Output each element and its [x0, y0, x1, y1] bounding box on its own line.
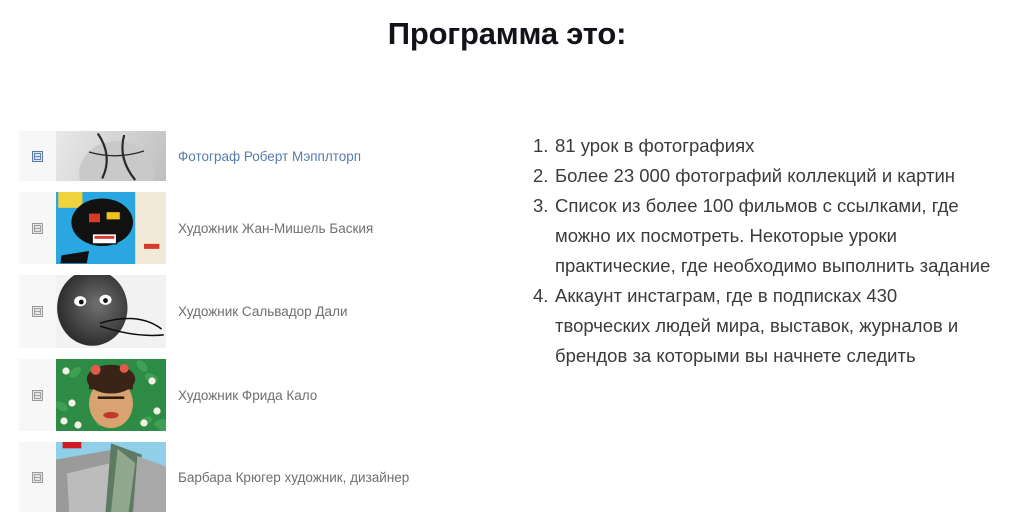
- artist-thumbnail: [56, 192, 166, 264]
- broken-image-icon: [19, 223, 56, 234]
- program-list-item: 1.81 урок в фотографиях: [533, 131, 993, 161]
- artist-thumbnail: [56, 359, 166, 431]
- artist-label: Барбара Крюгер художник, дизайнер: [166, 470, 409, 485]
- artist-list: Фотограф Роберт МэпплторпХудожник Жан-Ми…: [19, 131, 489, 523]
- artist-row[interactable]: Художник Жан-Мишель Баския: [19, 192, 489, 264]
- program-item-number: 1.: [533, 131, 553, 161]
- program-item-text: Более 23 000 фотографий коллекций и карт…: [555, 161, 993, 191]
- artist-row[interactable]: Фотограф Роберт Мэпплторп: [19, 131, 489, 181]
- artist-label: Художник Сальвадор Дали: [166, 304, 348, 319]
- artist-thumbnail: [56, 442, 166, 512]
- artist-media: [19, 275, 166, 348]
- artist-row[interactable]: Художник Фрида Кало: [19, 359, 489, 431]
- program-list-item: 4.Аккаунт инстаграм, где в подписках 430…: [533, 281, 993, 371]
- program-item-number: 2.: [533, 161, 553, 191]
- program-item-text: Список из более 100 фильмов с ссылками, …: [555, 191, 993, 281]
- broken-image-icon: [19, 306, 56, 317]
- artist-thumbnail: [56, 131, 166, 181]
- program-item-number: 4.: [533, 281, 553, 311]
- artist-label: Художник Жан-Мишель Баския: [166, 221, 373, 236]
- program-list: 1.81 урок в фотографиях2.Более 23 000 фо…: [533, 131, 993, 371]
- artist-media: [19, 131, 166, 181]
- program-list-item: 2.Более 23 000 фотографий коллекций и ка…: [533, 161, 993, 191]
- program-list-item: 3.Список из более 100 фильмов с ссылками…: [533, 191, 993, 281]
- page-title: Программа это:: [0, 16, 1014, 52]
- artist-media: [19, 359, 166, 431]
- program-item-text: Аккаунт инстаграм, где в подписках 430 т…: [555, 281, 993, 371]
- program-item-text: 81 урок в фотографиях: [555, 131, 993, 161]
- artist-label[interactable]: Фотограф Роберт Мэпплторп: [166, 149, 361, 164]
- broken-image-icon: [19, 151, 56, 162]
- program-item-number: 3.: [533, 191, 553, 221]
- artist-row[interactable]: Барбара Крюгер художник, дизайнер: [19, 442, 489, 512]
- broken-image-icon: [19, 390, 56, 401]
- page-root: Программа это: Фотограф Роберт Мэпплторп…: [0, 0, 1014, 530]
- artist-thumbnail: [56, 275, 166, 348]
- artist-media: [19, 442, 166, 512]
- artist-row[interactable]: Художник Сальвадор Дали: [19, 275, 489, 348]
- artist-label: Художник Фрида Кало: [166, 388, 317, 403]
- artist-media: [19, 192, 166, 264]
- broken-image-icon: [19, 472, 56, 483]
